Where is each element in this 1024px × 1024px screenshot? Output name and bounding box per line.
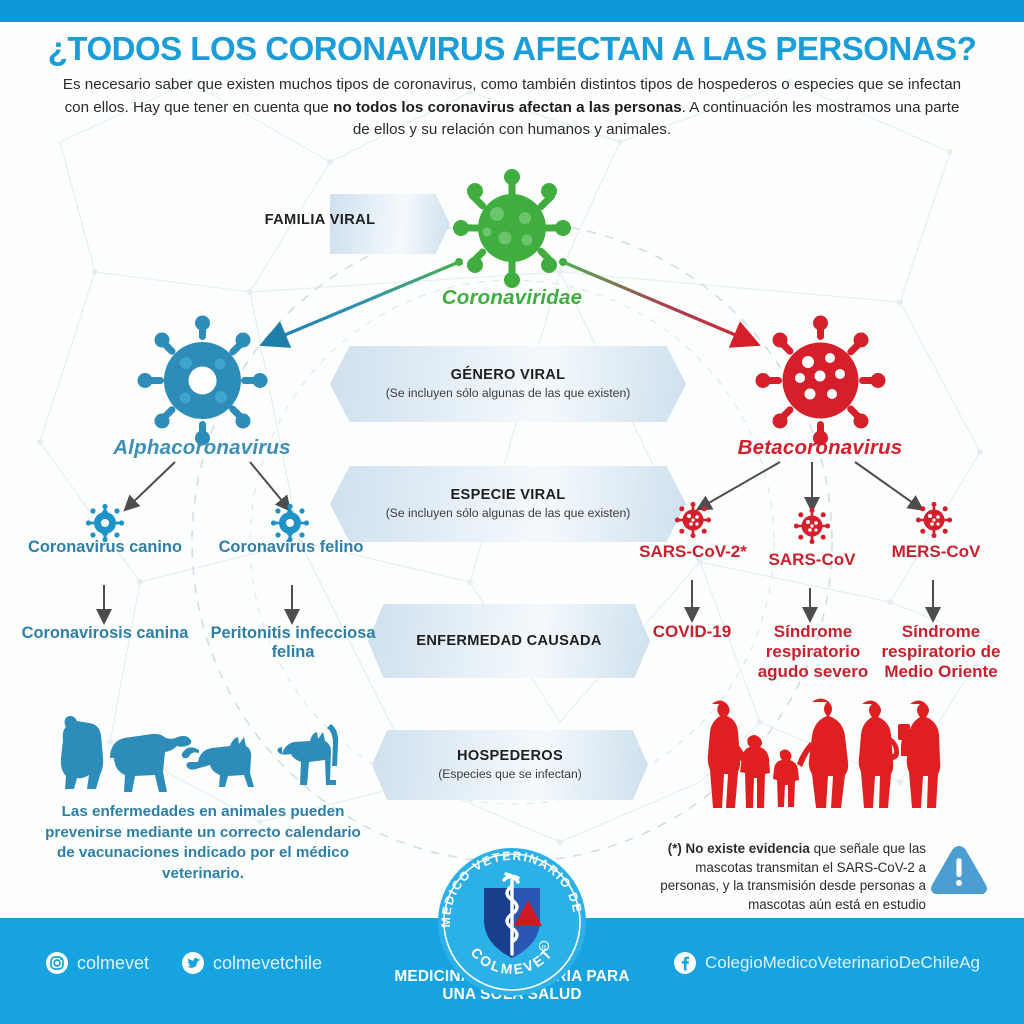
disease-label-peritonitis-felina: Peritonitis infecciosa felina bbox=[198, 624, 388, 663]
arrow-beta-to-merscov bbox=[855, 462, 920, 508]
coronaviridae-virus-icon bbox=[447, 170, 577, 290]
banner-familia-viral-label: FAMILIA VIRAL bbox=[220, 212, 420, 229]
colmevet-seal-logo: COLEGIO MEDICO VETERINARIO DE CHILE A.G.… bbox=[424, 834, 600, 1010]
twitter-handle[interactable]: colmevetchile bbox=[213, 953, 322, 974]
alphacoronavirus-virus-icon bbox=[140, 318, 265, 443]
arrow-beta-to-sarscov2 bbox=[700, 462, 780, 508]
coronaviridae-label: Coronaviridae bbox=[392, 286, 632, 310]
social-instagram[interactable]: colmevet bbox=[46, 952, 149, 974]
coronavirus-canino-icon bbox=[86, 504, 124, 542]
disease-label-mers: Síndrome respiratorio de Medio Oriente bbox=[866, 622, 1016, 682]
mers-cov-icon bbox=[916, 502, 952, 538]
betacoronavirus-label: Betacoronavirus bbox=[700, 436, 940, 460]
betacoronavirus-virus-icon bbox=[758, 318, 883, 443]
twitter-icon[interactable] bbox=[182, 952, 204, 974]
pets-silhouette bbox=[48, 710, 348, 800]
banner-genero-viral-title: GÉNERO VIRAL bbox=[451, 367, 566, 384]
instagram-handle[interactable]: colmevet bbox=[77, 953, 149, 974]
social-facebook[interactable]: ColegioMedicoVeterinarioDeChileAg bbox=[674, 952, 980, 974]
banner-especie-viral: ESPECIE VIRAL (Se incluyen sólo algunas … bbox=[330, 466, 686, 542]
warning-triangle-icon bbox=[928, 842, 990, 898]
banner-hospederos-title: HOSPEDEROS bbox=[457, 748, 563, 765]
alpha-prevention-caption: Las enfermedades en animales pueden prev… bbox=[40, 802, 366, 884]
banner-genero-viral: GÉNERO VIRAL (Se incluyen sólo algunas d… bbox=[330, 346, 686, 422]
instagram-icon[interactable] bbox=[46, 952, 68, 974]
banner-genero-viral-subtitle: (Se incluyen sólo algunas de las que exi… bbox=[368, 386, 648, 401]
banner-enfermedad-causada: ENFERMEDAD CAUSADA bbox=[368, 604, 650, 678]
banner-hospederos-subtitle: (Especies que se infectan) bbox=[438, 767, 582, 782]
sars-cov-2-icon bbox=[675, 502, 711, 538]
species-label-mers-cov: MERS-CoV bbox=[866, 542, 1006, 562]
beta-disclaimer-text: (*) No existe evidencia que señale que l… bbox=[650, 840, 926, 914]
infographic-canvas: ¿TODOS LOS CORONAVIRUS AFECTAN A LAS PER… bbox=[0, 0, 1024, 1024]
species-label-coronavirus-felino: Coronavirus felino bbox=[210, 538, 372, 557]
svg-text:R: R bbox=[542, 945, 547, 951]
species-label-sars-cov: SARS-CoV bbox=[742, 550, 882, 570]
disease-label-coronavirosis-canina: Coronavirosis canina bbox=[14, 624, 196, 643]
coronavirus-felino-icon bbox=[271, 504, 309, 542]
arrow-alpha-to-feline bbox=[250, 462, 288, 508]
sars-cov-icon bbox=[794, 508, 830, 544]
social-twitter[interactable]: colmevetchile bbox=[182, 952, 322, 974]
disclaimer-emphasis: (*) No existe evidencia bbox=[668, 841, 810, 856]
facebook-handle[interactable]: ColegioMedicoVeterinarioDeChileAg bbox=[705, 953, 980, 973]
disease-label-sars: Síndrome respiratorio agudo severo bbox=[740, 622, 886, 682]
alphacoronavirus-label: Alphacoronavirus bbox=[82, 436, 322, 460]
human-family-silhouette bbox=[690, 694, 938, 814]
arrow-alpha-to-canine bbox=[127, 462, 175, 508]
species-label-coronavirus-canino: Coronavirus canino bbox=[24, 538, 186, 557]
banner-especie-viral-subtitle: (Se incluyen sólo algunas de las que exi… bbox=[363, 506, 653, 521]
banner-enfermedad-causada-title: ENFERMEDAD CAUSADA bbox=[414, 633, 604, 650]
banner-hospederos: HOSPEDEROS (Especies que se infectan) bbox=[372, 730, 648, 800]
banner-especie-viral-title: ESPECIE VIRAL bbox=[451, 487, 566, 504]
